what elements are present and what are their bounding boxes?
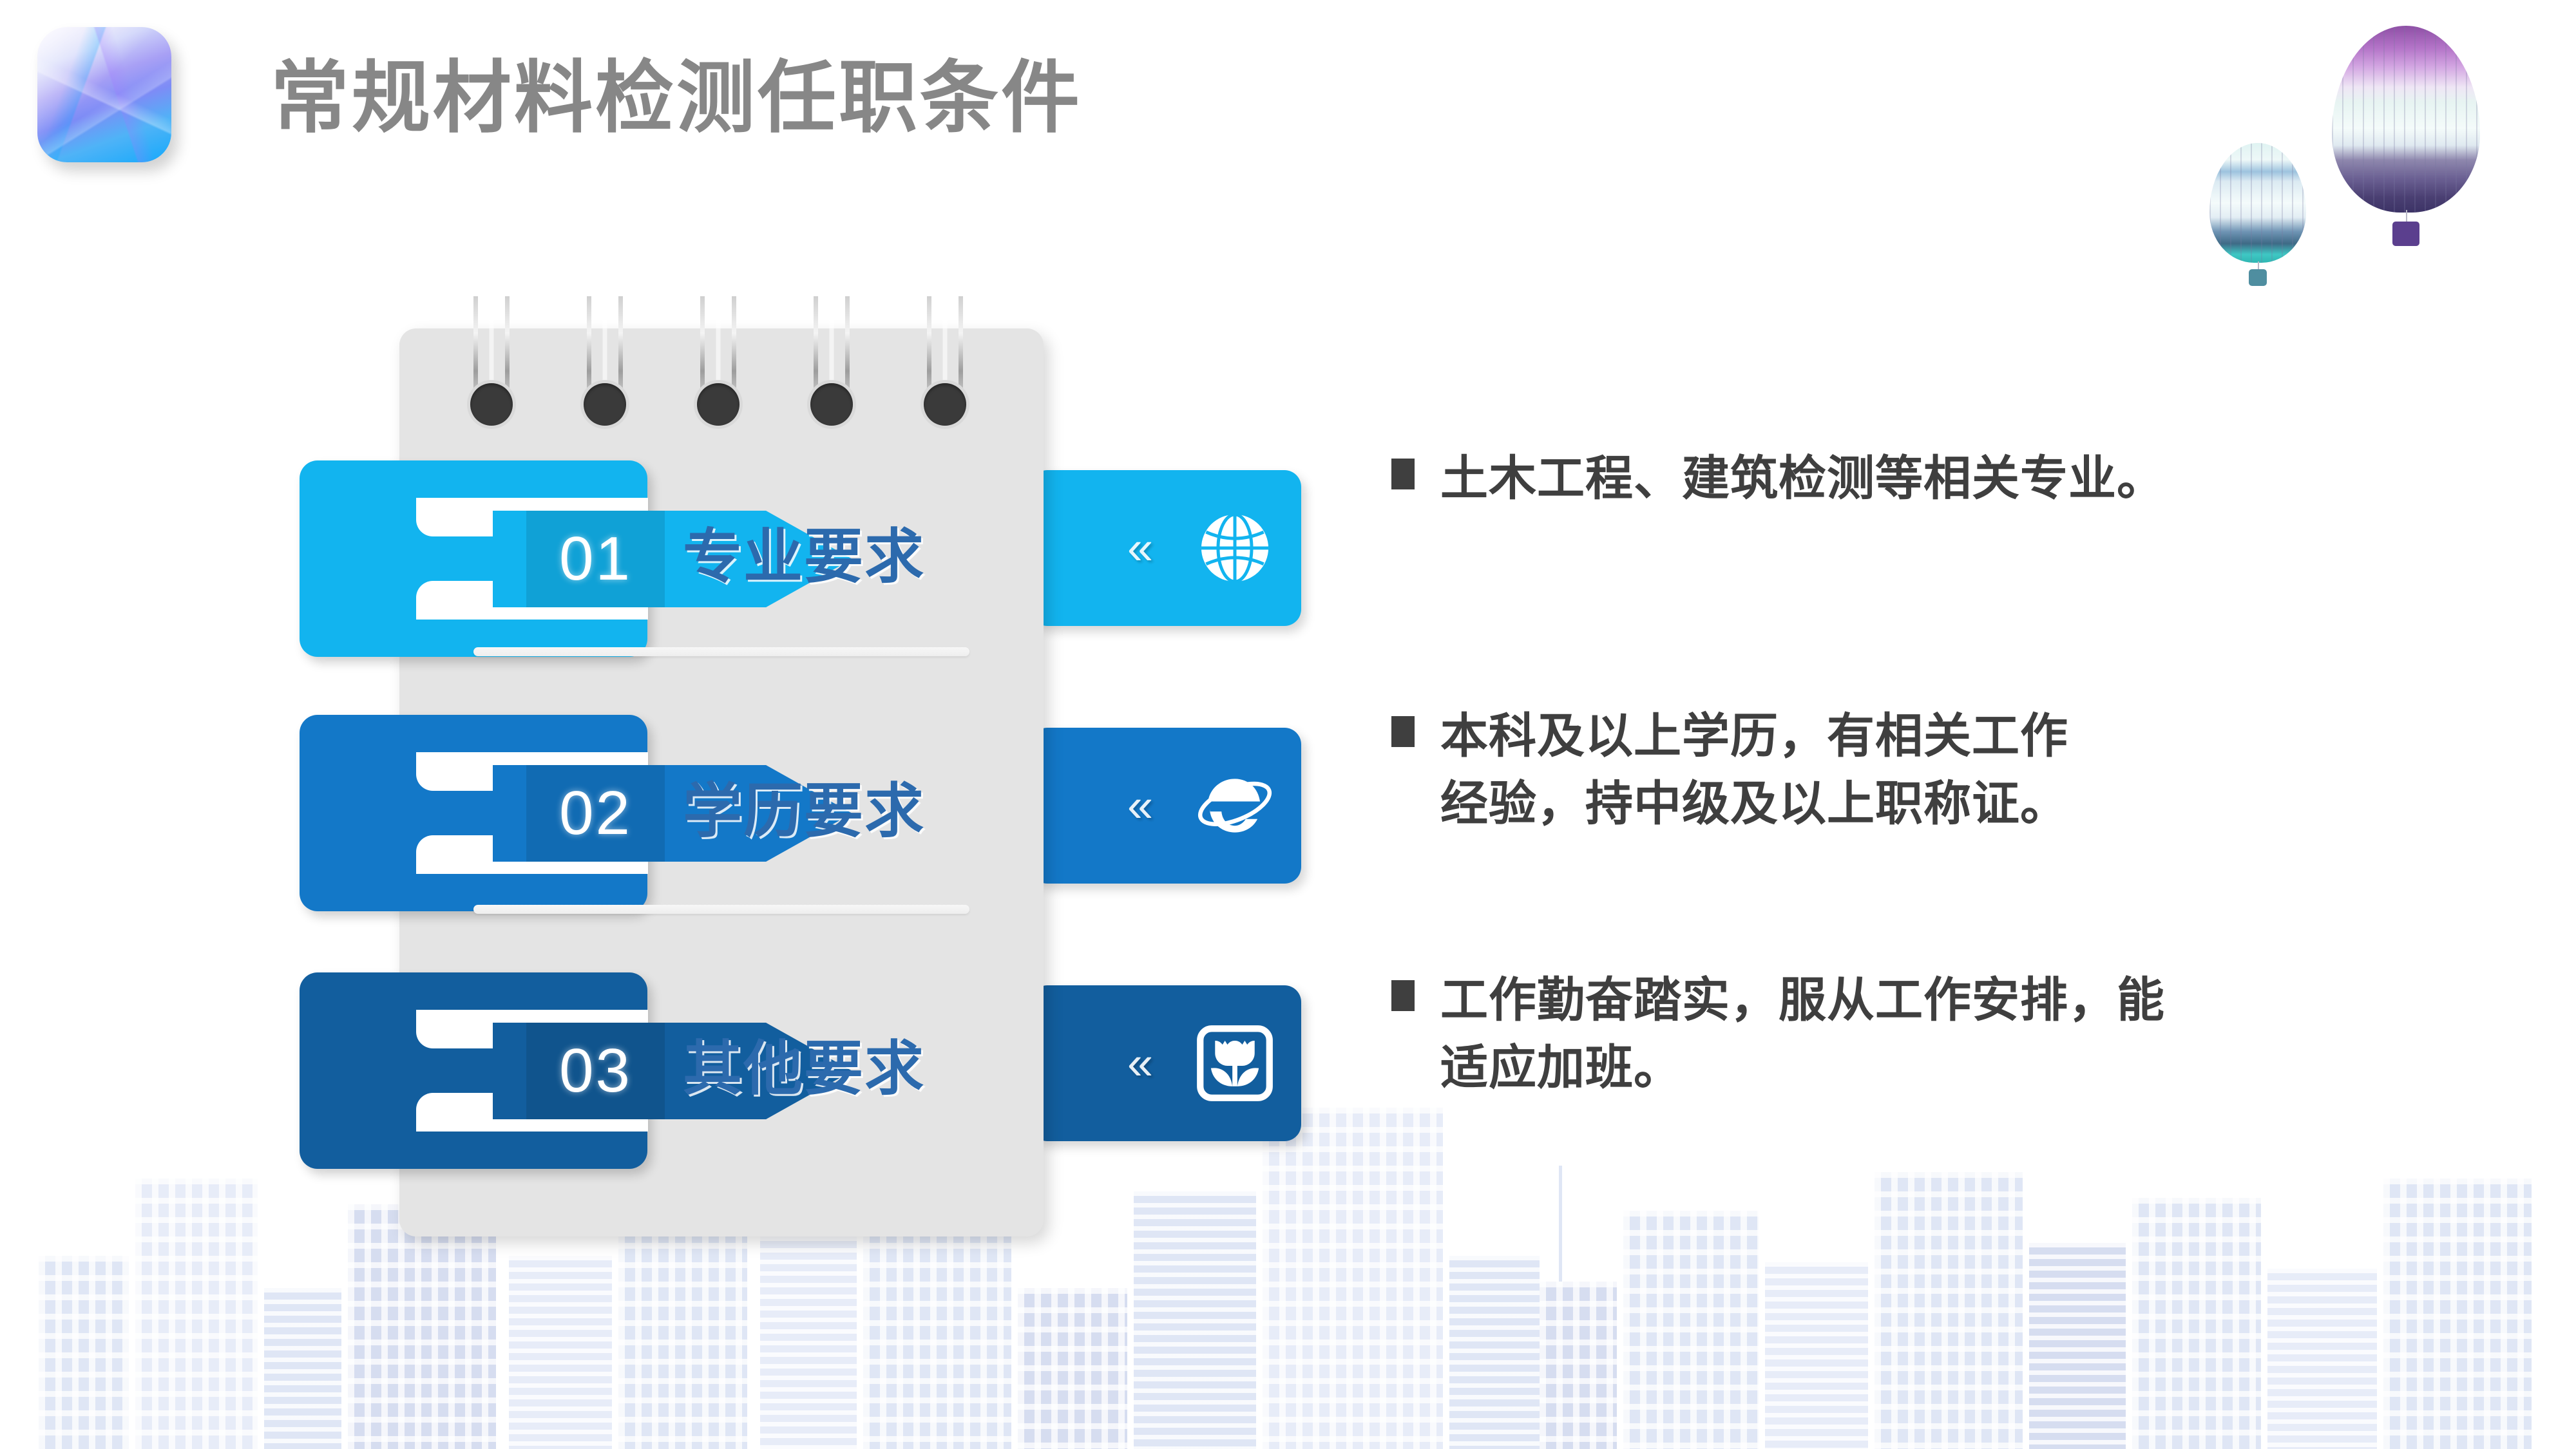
- icon-panel-row-2[interactable]: «: [1031, 728, 1301, 884]
- bullet-item-2: 本科及以上学历，有相关工作 经验，持中级及以上职称证。: [1391, 702, 2068, 837]
- chevron-left-double-icon: «: [1127, 525, 1153, 571]
- bullet-text-1: 土木工程、建筑检测等相关专业。: [1440, 444, 2165, 512]
- app-logo: [37, 27, 171, 162]
- row-2-divider: [473, 905, 969, 914]
- bullet-text-2: 本科及以上学历，有相关工作 经验，持中级及以上职称证。: [1440, 702, 2068, 837]
- row-3-number: 03: [526, 1023, 665, 1119]
- hot-air-balloon-teal-icon: [2209, 143, 2306, 263]
- bullet-item-3: 工作勤奋踏实，服从工作安排，能 适应加班。: [1391, 966, 2165, 1101]
- internet-explorer-e-icon: [1193, 764, 1277, 848]
- bullet-item-1: 土木工程、建筑检测等相关专业。: [1391, 444, 2165, 512]
- row-2-number: 02: [526, 765, 665, 862]
- globe-icon: [1193, 506, 1277, 590]
- row-1-number: 01: [526, 511, 665, 607]
- icon-panel-row-3[interactable]: «: [1031, 985, 1301, 1141]
- chevron-left-double-icon: «: [1127, 782, 1153, 829]
- hot-air-balloon-purple-icon: [2332, 26, 2480, 213]
- bullet-square-icon: [1391, 980, 1415, 1011]
- bullet-square-icon: [1391, 459, 1415, 489]
- icon-panel-row-1[interactable]: «: [1031, 470, 1301, 626]
- row-1-label: 专业要求: [683, 509, 925, 594]
- bullet-text-3: 工作勤奋踏实，服从工作安排，能 适应加班。: [1440, 966, 2165, 1101]
- row-1-divider: [473, 647, 969, 656]
- tulip-photo-icon: [1193, 1021, 1277, 1105]
- page-title: 常规材料检测任职条件: [271, 55, 1082, 141]
- row-3-label: 其他要求: [683, 1021, 925, 1106]
- row-2-label: 学历要求: [683, 763, 925, 849]
- chevron-left-double-icon: «: [1127, 1040, 1153, 1086]
- bullet-square-icon: [1391, 716, 1415, 747]
